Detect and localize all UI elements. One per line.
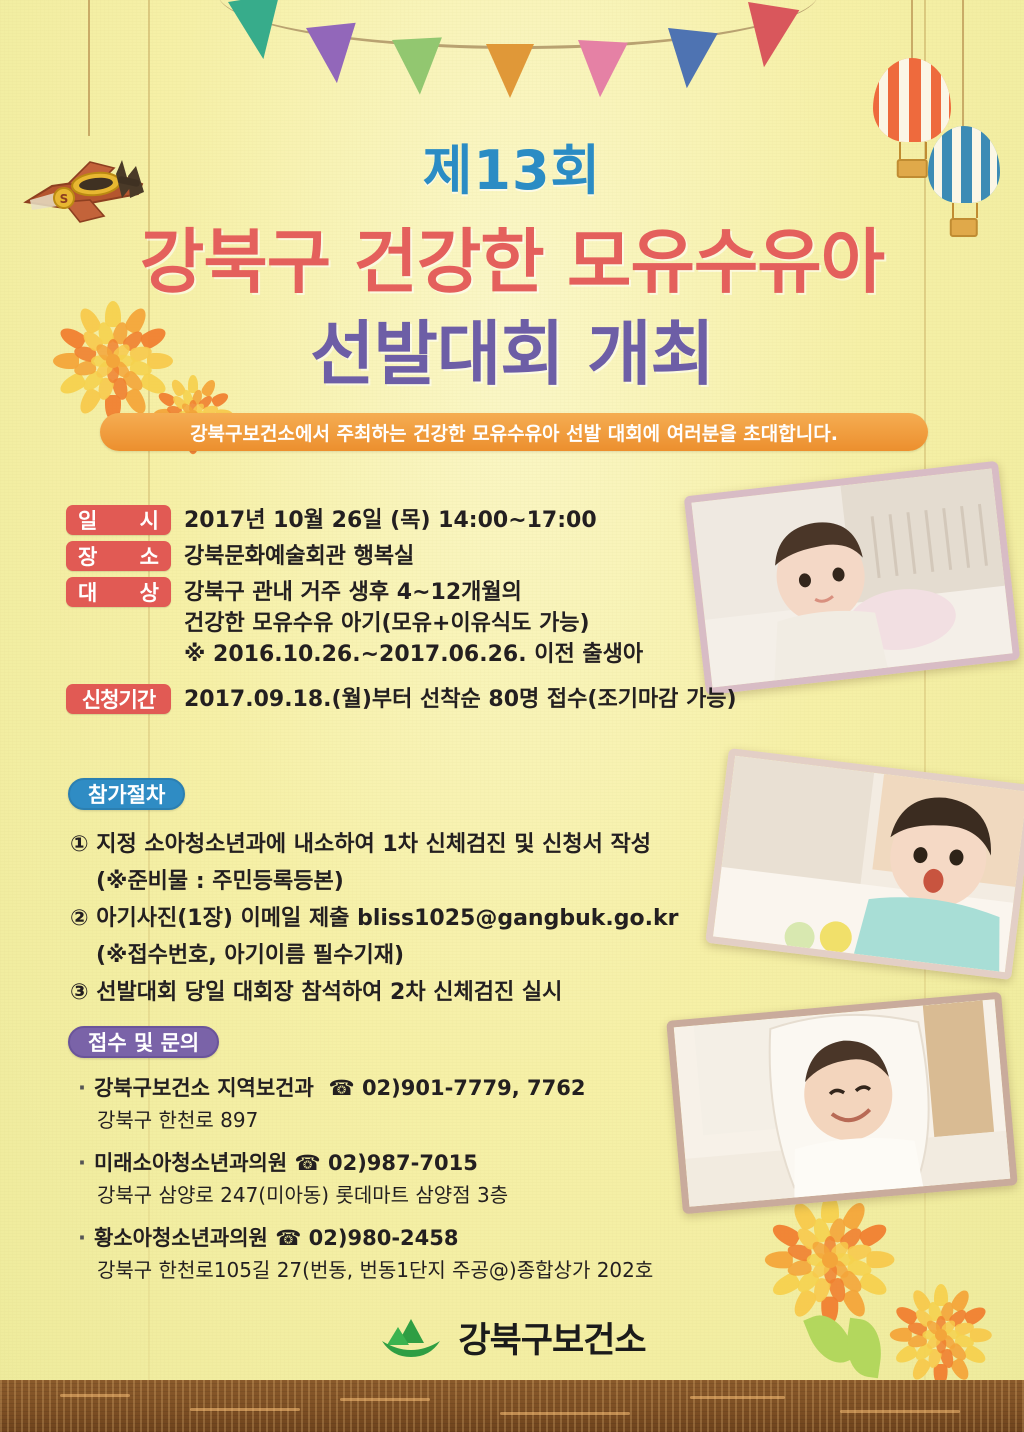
contact-item-2: ·미래소아청소년과의원 ☎ 02)987-7015 강북구 삼양로 247(미아… <box>78 1147 738 1208</box>
phone-icon-3: ☎ <box>275 1226 301 1250</box>
info-block: 일 시 2017년 10월 26일 (목) 14:00~17:00 장 소 강북… <box>66 505 666 720</box>
bullet-icon-1: · <box>78 1076 86 1100</box>
issue-number: 제13회 <box>0 126 1024 205</box>
wood-floor <box>0 1380 1024 1432</box>
contact-item-1-phone[interactable]: 02)901-7779, 7762 <box>362 1076 586 1100</box>
info-value-date-line-1: 2017년 10월 26일 (목) 14:00~17:00 <box>184 505 597 536</box>
info-label-date-right: 시 <box>140 505 159 535</box>
poster-root: S 제13회 강 <box>0 0 1024 1432</box>
info-label-date-left: 일 <box>78 505 97 535</box>
info-label-place: 장 소 <box>66 541 171 571</box>
info-label-place-right: 소 <box>140 541 159 571</box>
info-value-date: 2017년 10월 26일 (목) 14:00~17:00 <box>184 505 597 536</box>
bullet-icon-2: · <box>78 1151 86 1175</box>
info-row-date: 일 시 2017년 10월 26일 (목) 14:00~17:00 <box>66 505 666 536</box>
balloon-2-string <box>962 0 964 128</box>
info-value-period: 2017.09.18.(월)부터 선착순 80명 접수(조기마감 가능) <box>184 684 737 715</box>
contact-item-3-phone[interactable]: 02)980-2458 <box>309 1226 459 1250</box>
info-label-place-left: 장 <box>78 541 97 571</box>
baby-photo-1 <box>684 461 1021 695</box>
procedure-heading: 참가절차 <box>68 778 185 810</box>
airplane-string <box>88 0 90 136</box>
info-row-period: 신청기간 2017.09.18.(월)부터 선착순 80명 접수(조기마감 가능… <box>66 684 666 715</box>
info-row-place: 장 소 강북문화예술회관 행복실 <box>66 541 666 572</box>
contact-item-3: ·황소아청소년과의원 ☎ 02)980-2458 강북구 한천로105길 27(… <box>78 1222 738 1283</box>
contact-item-2-address: 강북구 삼양로 247(미아동) 롯데마트 삼양점 3층 <box>78 1179 738 1208</box>
contact-item-3-address: 강북구 한천로105길 27(번동, 번동1단지 주공@)종합상가 202호 <box>78 1254 738 1283</box>
contact-item-3-title: ·황소아청소년과의원 ☎ 02)980-2458 <box>78 1222 738 1252</box>
procedure-step-3: ③ 선발대회 당일 대회장 참석하여 2차 신체검진 실시 <box>70 974 710 1011</box>
title-line-1: 강북구 건강한 모유수유아 <box>0 206 1024 307</box>
info-label-target-right: 상 <box>140 577 159 607</box>
info-value-place: 강북문화예술회관 행복실 <box>184 541 414 572</box>
procedure-steps: ① 지정 소아청소년과에 내소하여 1차 신체검진 및 신청서 작성 (※준비물… <box>70 826 710 1011</box>
footer-logo: 강북구보건소 <box>0 1312 1024 1363</box>
title-line-2: 선발대회 개최 <box>0 298 1024 399</box>
info-value-place-line-1: 강북문화예술회관 행복실 <box>184 541 414 572</box>
contact-item-1-name: 강북구보건소 지역보건과 <box>94 1076 314 1100</box>
info-label-target-left: 대 <box>78 577 97 607</box>
subtitle-banner: 강북구보건소에서 주최하는 건강한 모유수유아 선발 대회에 여러분을 초대합니… <box>100 413 928 451</box>
contact-item-1-address: 강북구 한천로 897 <box>78 1104 738 1133</box>
info-value-target-line-2: 건강한 모유수유 아기(모유+이유식도 가능) <box>184 608 643 639</box>
info-value-target-line-3: ※ 2016.10.26.~2017.06.26. 이전 출생아 <box>184 639 643 670</box>
info-label-target: 대 상 <box>66 577 171 607</box>
balloon-1-string <box>911 0 913 62</box>
footer-org-name: 강북구보건소 <box>458 1312 645 1363</box>
contact-item-2-title: ·미래소아청소년과의원 ☎ 02)987-7015 <box>78 1147 738 1177</box>
baby-photo-2 <box>705 748 1024 980</box>
flower-decoration-bottom-1 <box>760 1190 900 1330</box>
info-value-period-line-1: 2017.09.18.(월)부터 선착순 80명 접수(조기마감 가능) <box>184 684 737 715</box>
procedure-step-2: ② 아기사진(1장) 이메일 제출 bliss1025@gangbuk.go.k… <box>70 900 710 937</box>
mountain-logo-icon <box>378 1315 444 1361</box>
contact-item-2-phone[interactable]: 02)987-7015 <box>328 1151 478 1175</box>
flower-center <box>822 1252 837 1267</box>
contact-item-1: ·강북구보건소 지역보건과 ☎ 02)901-7779, 7762 강북구 한천… <box>78 1072 738 1133</box>
phone-icon-1: ☎ <box>328 1076 354 1100</box>
contact-item-3-name: 황소아청소년과의원 <box>94 1226 268 1250</box>
contact-item-1-title: ·강북구보건소 지역보건과 ☎ 02)901-7779, 7762 <box>78 1072 738 1102</box>
procedure-step-2-note: (※접수번호, 아기이름 필수기재) <box>70 937 710 974</box>
procedure-step-1-note: (※준비물 : 주민등록등본) <box>70 863 710 900</box>
bullet-icon-3: · <box>78 1226 86 1250</box>
contact-heading: 접수 및 문의 <box>68 1026 219 1058</box>
info-label-period: 신청기간 <box>66 684 171 714</box>
procedure-step-1: ① 지정 소아청소년과에 내소하여 1차 신체검진 및 신청서 작성 <box>70 826 710 863</box>
info-label-date: 일 시 <box>66 505 171 535</box>
info-value-target: 강북구 관내 거주 생후 4~12개월의 건강한 모유수유 아기(모유+이유식도… <box>184 577 643 670</box>
contact-list: ·강북구보건소 지역보건과 ☎ 02)901-7779, 7762 강북구 한천… <box>78 1072 738 1297</box>
info-row-target: 대 상 강북구 관내 거주 생후 4~12개월의 건강한 모유수유 아기(모유+… <box>66 577 666 670</box>
info-value-target-line-1: 강북구 관내 거주 생후 4~12개월의 <box>184 577 643 608</box>
flower-petal <box>867 1251 895 1268</box>
phone-icon-2: ☎ <box>295 1151 321 1175</box>
contact-item-2-name: 미래소아청소년과의원 <box>94 1151 287 1175</box>
